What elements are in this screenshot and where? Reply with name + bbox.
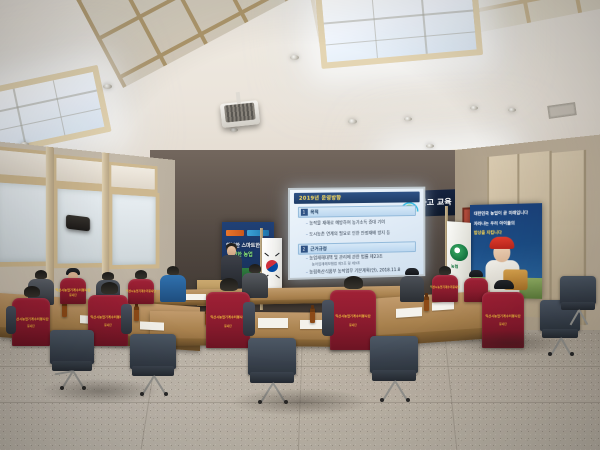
handout-document <box>432 301 454 311</box>
slide-bullet: 농작물 재해로 예방하여 농가소득 증대 기여 <box>306 219 416 227</box>
green-circle-emblem <box>450 243 468 261</box>
chair-back <box>130 334 176 369</box>
attendee-hair <box>344 276 363 289</box>
attendee-hair <box>220 278 238 291</box>
slide-section-number-1: 1 <box>300 209 307 216</box>
downlight <box>103 84 112 89</box>
poster-child-cap <box>489 237 514 249</box>
volunteer-vest: 익산시농업기계수리봉사단 봉사단 <box>12 298 50 346</box>
vest-text-line-1: 익산시농업기계수리봉사단 <box>55 287 90 292</box>
downlight <box>426 144 434 148</box>
slide-title-text: 2019년 운영방향 <box>294 194 341 202</box>
chair-seat <box>372 370 416 381</box>
chair-seat <box>250 372 294 383</box>
downlight <box>508 108 516 112</box>
downlight <box>404 117 412 121</box>
attendee-back: 익산시농업기계수리봉사단 봉사단 <box>60 268 86 304</box>
attendee-back: 익산시농업기계수리봉사단 <box>128 270 154 304</box>
attendee-hair <box>249 264 261 273</box>
attendee-cap <box>405 268 419 275</box>
handout-document <box>258 318 288 328</box>
attendee-back: 익산시농업기계수리봉사단 <box>432 266 458 302</box>
chair-caster <box>406 398 410 402</box>
attendee-hair <box>24 286 40 297</box>
attendee-front: 익산시농업기계수리봉사단 봉사단 <box>88 282 128 346</box>
office-chair-empty[interactable] <box>560 276 596 326</box>
attendee-hair <box>167 266 179 275</box>
left-wall-pillar <box>102 152 109 282</box>
beverage-bottle <box>424 296 429 311</box>
trigram <box>275 253 280 257</box>
left-wall-transom <box>53 154 108 187</box>
chair-back <box>248 338 296 375</box>
volunteer-vest: 익산시농업기계수리봉사단 <box>128 279 154 304</box>
attendee-sleeve <box>243 302 255 336</box>
attendee-hair <box>35 270 47 279</box>
vest-text-line-2: 봉사단 <box>69 293 76 297</box>
chair-leg <box>578 310 588 326</box>
attendee-back <box>160 266 186 302</box>
attendee-front: 익산시농업기계수리봉사단 봉사단 <box>12 286 50 346</box>
poster-headline: 대한민국 농업이 곧 미래입니다 <box>474 210 528 217</box>
chair-caster <box>570 352 574 356</box>
slide-section-number-2: 2 <box>300 246 307 253</box>
vest-text-line-2: 봉사단 <box>224 324 231 328</box>
attendee-cap <box>469 270 483 277</box>
vest-text-line-1: 익산시농업기계수리봉사단 <box>126 289 156 293</box>
chair-back <box>370 336 418 373</box>
attendee-hair <box>101 282 118 294</box>
chair-back <box>50 330 94 364</box>
floor-shadow <box>450 330 570 356</box>
attendee-hair <box>135 270 147 279</box>
downlight <box>470 106 478 110</box>
vest-text-line-1: 익산시농업기계수리봉사단 <box>210 314 245 319</box>
attendee-front: 익산시농업기계수리봉사단 봉사단 <box>206 278 250 348</box>
slide-section-label-2: 근거규정 <box>310 246 327 252</box>
attendee-torso <box>400 276 424 302</box>
slide-bullet: 도시농촌 연계의 필요로 인한 안정재배 방지 등 <box>306 230 416 238</box>
downlight <box>348 119 357 124</box>
banner-chip <box>247 230 269 236</box>
beverage-bottle <box>134 306 139 321</box>
slide-section-label-1: 목적 <box>310 209 318 215</box>
attendee-torso <box>160 275 186 302</box>
attendee-cap <box>494 280 514 289</box>
chair-leg <box>382 380 396 400</box>
volunteer-vest: 익산시농업기계수리봉사단 <box>432 275 458 302</box>
floor-shadow <box>40 378 160 404</box>
attendee-sleeve <box>121 304 132 334</box>
beverage-bottle <box>62 302 67 317</box>
attendee-hair <box>439 266 451 275</box>
vest-text-line-2: 봉사단 <box>349 323 356 327</box>
vest-text-line-1: 익산시농업기계수리봉사단 <box>13 316 48 321</box>
attendee-sleeve <box>6 306 16 334</box>
chair-caster <box>380 398 384 402</box>
projector-lens-assembly <box>224 102 256 122</box>
vest-text-line-2: 봉사단 <box>104 323 111 327</box>
slide-section-header-1: 1 목적 <box>298 205 416 218</box>
floor-shadow <box>230 388 370 416</box>
vest-text-line-1: 익산시농업기계수리봉사단 <box>430 285 460 289</box>
conference-room-photo: 전사고 교육 대한민국 농업이 곧 미래입니다 자라나는 우리 아이들의 밥상을… <box>0 0 600 450</box>
vest-text-line-2: 봉사단 <box>499 322 506 326</box>
presentation-slide: 2019년 운영방향 1 목적 농작물 재해로 예방하여 농가소득 증대 기여 … <box>290 189 423 278</box>
attendee-hair <box>102 272 114 280</box>
vest-text-line-1: 익산시농업기계수리봉사단 <box>485 313 520 318</box>
left-wall-window <box>108 190 159 270</box>
handout-document <box>396 307 422 318</box>
volunteer-vest: 익산시농업기계수리봉사단 봉사단 <box>60 278 86 304</box>
poster-accent-text: 밥상을 지킵니다 <box>474 230 502 236</box>
attendee-sleeve <box>322 300 334 336</box>
beverage-bottle <box>310 308 315 323</box>
left-wall-pillar <box>46 146 54 284</box>
chair-back <box>560 276 596 304</box>
ceiling-projector <box>220 100 260 128</box>
banner-chip <box>226 230 244 236</box>
wall-speaker <box>66 215 90 232</box>
handout-document <box>140 321 164 330</box>
trigram <box>275 275 280 279</box>
attendee-back <box>400 268 424 302</box>
poster-subline: 자라나는 우리 아이들의 <box>474 220 515 227</box>
projection-screen: 2019년 운영방향 1 목적 농작물 재해로 예방하여 농가소득 증대 기여 … <box>288 187 425 280</box>
downlight <box>230 128 238 132</box>
vest-text-line-2: 봉사단 <box>27 324 34 328</box>
downlight <box>290 55 299 60</box>
vest-text-line-1: 익산시농업기계수리봉사단 <box>335 313 370 318</box>
left-wall-transom <box>108 162 157 193</box>
handout-document <box>186 294 206 300</box>
office-chair[interactable] <box>370 336 418 402</box>
trigram <box>264 253 269 257</box>
chair-caster <box>164 392 168 396</box>
